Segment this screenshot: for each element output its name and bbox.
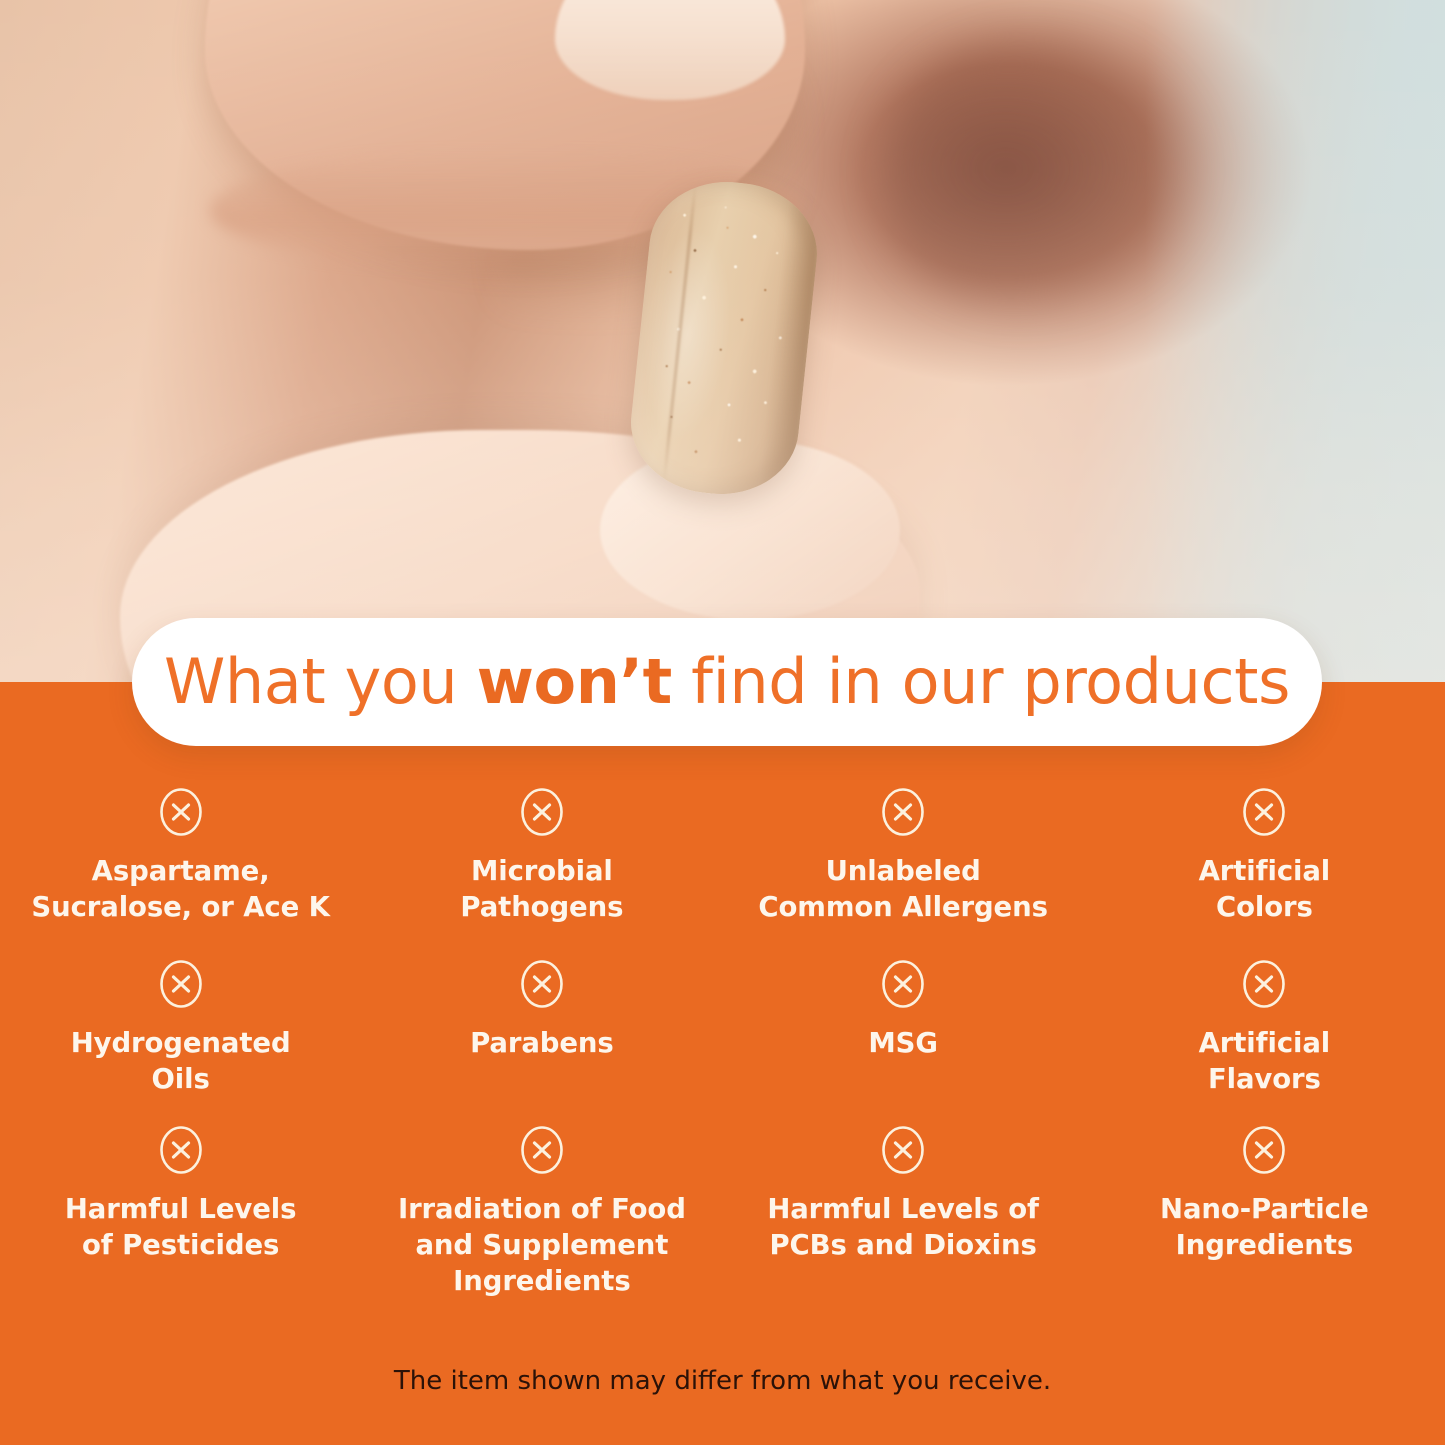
page-title: What you won’t find in our products [164,651,1290,713]
grid-item: Aspartame, Sucralose, or Ace K [0,786,361,958]
excluded-ingredients-grid: Aspartame, Sucralose, or Ace K Microbial… [0,786,1445,1324]
grid-item: MSG [723,958,1084,1124]
grid-item-label: Hydrogenated Oils [71,1026,291,1098]
grid-item: Parabens [361,958,722,1124]
circle-x-icon [158,1124,204,1176]
product-claims-infographic: What you won’t find in our products Aspa… [0,0,1445,1445]
circle-x-icon [158,958,204,1010]
headline-part-before: What you [164,645,477,718]
grid-item-label: Unlabeled Common Allergens [758,854,1047,926]
grid-item-label: Artificial Flavors [1199,1026,1331,1098]
circle-x-icon [519,786,565,838]
grid-item-label: Microbial Pathogens [460,854,623,926]
grid-item: Harmful Levels of PCBs and Dioxins [723,1124,1084,1324]
grid-item: Artificial Colors [1084,786,1445,958]
grid-item-label: Harmful Levels of Pesticides [65,1192,296,1264]
headline-emphasis: won’t [477,645,672,718]
grid-item-label: MSG [868,1026,937,1062]
circle-x-icon [1241,958,1287,1010]
circle-x-icon [1241,1124,1287,1176]
grid-item: Harmful Levels of Pesticides [0,1124,361,1324]
grid-item: Unlabeled Common Allergens [723,786,1084,958]
grid-item-label: Artificial Colors [1199,854,1331,926]
circle-x-icon [519,958,565,1010]
disclaimer-text: The item shown may differ from what you … [0,1366,1445,1396]
circle-x-icon [880,1124,926,1176]
grid-item: Hydrogenated Oils [0,958,361,1124]
grid-item-label: Nano-Particle Ingredients [1160,1192,1369,1264]
circle-x-icon [1241,786,1287,838]
circle-x-icon [158,786,204,838]
grid-item: Irradiation of Food and Supplement Ingre… [361,1124,722,1324]
grid-item: Nano-Particle Ingredients [1084,1124,1445,1324]
circle-x-icon [880,958,926,1010]
circle-x-icon [519,1124,565,1176]
grid-item-label: Parabens [470,1026,614,1062]
grid-item-label: Aspartame, Sucralose, or Ace K [31,854,329,926]
photo-light-wash [0,0,1445,700]
circle-x-icon [880,786,926,838]
grid-item-label: Harmful Levels of PCBs and Dioxins [767,1192,1039,1264]
grid-item: Artificial Flavors [1084,958,1445,1124]
headline-card: What you won’t find in our products [132,618,1322,746]
grid-item: Microbial Pathogens [361,786,722,958]
hand-holding-tablet-photo [0,0,1445,700]
headline-part-after: find in our products [672,645,1290,718]
grid-item-label: Irradiation of Food and Supplement Ingre… [398,1192,686,1299]
